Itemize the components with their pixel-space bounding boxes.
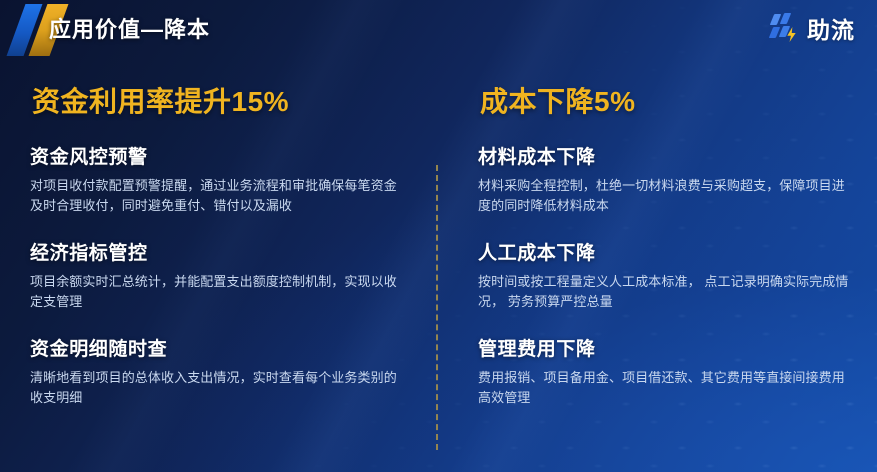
value-block: 资金明细随时查 清晰地看到项目的总体收入支出情况，实时查看每个业务类别的收支明细 [30,334,420,408]
value-block: 材料成本下降 材料采购全程控制，杜绝一切材料浪费与采购超支，保障项目进度的同时降… [478,142,873,216]
page-title: 应用价值—降本 [49,12,210,44]
block-title: 材料成本下降 [478,142,873,169]
logo-block-2 [780,13,791,24]
block-title: 人工成本下降 [478,238,873,265]
block-title: 管理费用下降 [478,334,873,361]
column-divider [436,165,438,450]
brand-name: 助流 [807,11,855,45]
block-description: 清晰地看到项目的总体收入支出情况，实时查看每个业务类别的收支明细 [30,368,402,408]
block-description: 按时间或按工程量定义人工成本标准， 点工记录明确实际完成情况， 劳务预算严控总量 [478,272,850,312]
brand-logo: 助流 [770,11,855,45]
slide-header: 应用价值—降本 助流 [0,0,877,58]
block-description: 费用报销、项目备用金、项目借还款、其它费用等直接间接费用高效管理 [478,368,850,408]
content-columns: 资金利用率提升15% 资金风控预警 对项目收付款配置预警提醒，通过业务流程和审批… [0,58,877,472]
column-right: 成本下降5% 材料成本下降 材料采购全程控制，杜绝一切材料浪费与采购超支，保障项… [478,58,873,408]
lightning-bolt-blocks-icon [770,13,800,43]
value-block: 人工成本下降 按时间或按工程量定义人工成本标准， 点工记录明确实际完成情况， 劳… [478,238,873,312]
block-description: 项目余额实时汇总统计，并能配置支出额度控制机制，实现以收定支管理 [30,272,402,312]
column-left: 资金利用率提升15% 资金风控预警 对项目收付款配置预警提醒，通过业务流程和审批… [30,58,420,408]
block-description: 材料采购全程控制，杜绝一切材料浪费与采购超支，保障项目进度的同时降低材料成本 [478,176,850,216]
block-title: 资金风控预警 [30,142,420,169]
block-description: 对项目收付款配置预警提醒，通过业务流程和审批确保每笔资金及时合理收付，同时避免重… [30,176,402,216]
value-block: 经济指标管控 项目余额实时汇总统计，并能配置支出额度控制机制，实现以收定支管理 [30,238,420,312]
block-title: 经济指标管控 [30,238,420,265]
value-block: 管理费用下降 费用报销、项目备用金、项目借还款、其它费用等直接间接费用高效管理 [478,334,873,408]
column-heading: 成本下降5% [480,80,873,120]
column-heading: 资金利用率提升15% [32,80,420,120]
value-block: 资金风控预警 对项目收付款配置预警提醒，通过业务流程和审批确保每笔资金及时合理收… [30,142,420,216]
block-title: 资金明细随时查 [30,334,420,361]
slide-root: 应用价值—降本 助流 资金利用率提升15% 资金风控预警 对项目收付款配置预警提… [0,0,877,472]
